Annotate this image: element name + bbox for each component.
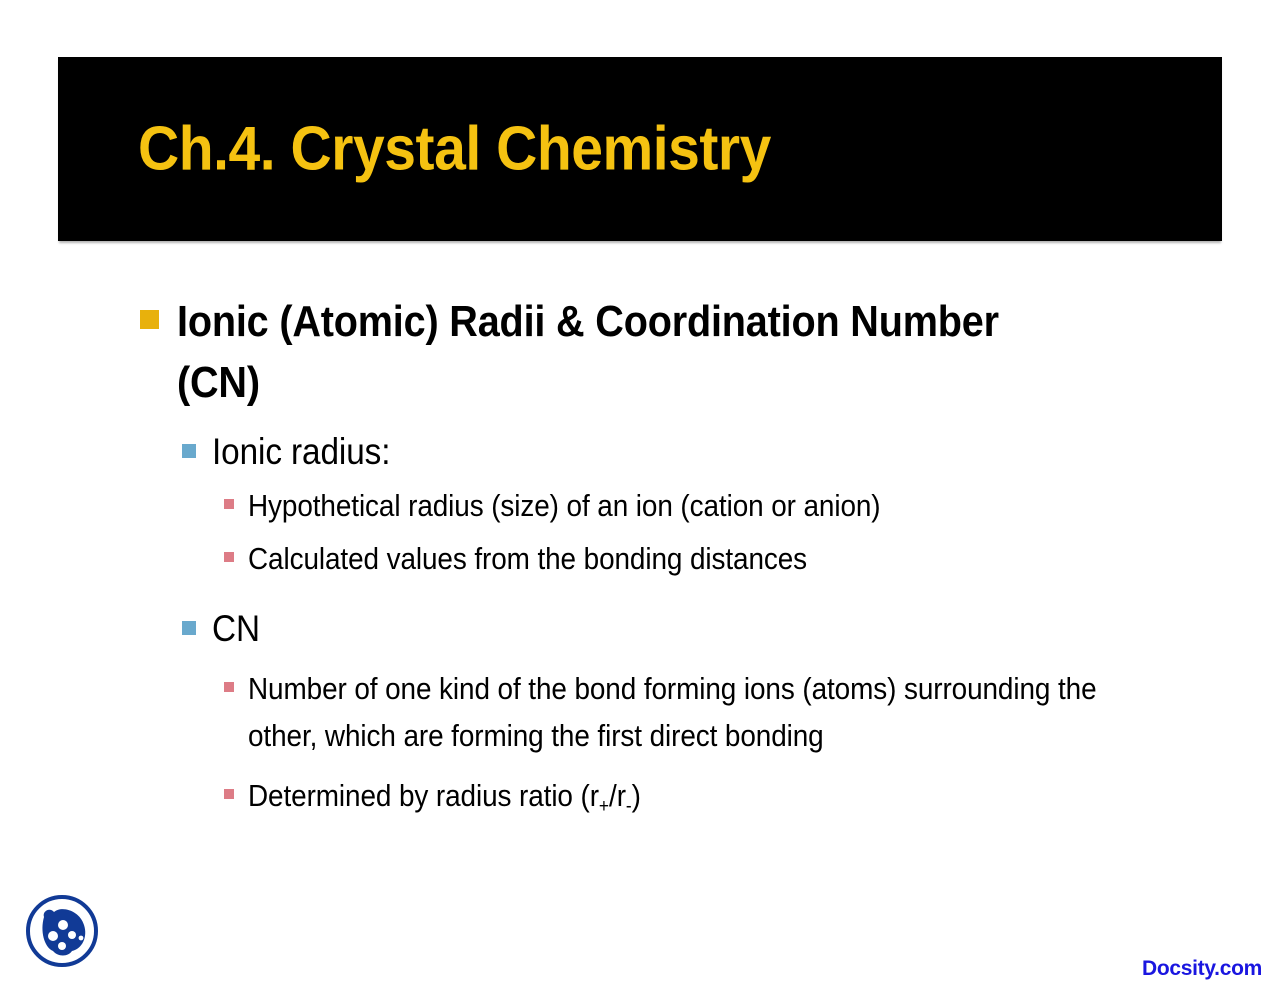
title-banner: Ch.4. Crystal Chemistry	[58, 57, 1222, 241]
slide-title: Ch.4. Crystal Chemistry	[138, 116, 826, 181]
bullet-marker-pink-square-icon	[224, 552, 234, 562]
bullet-level2-cn: CN	[0, 604, 1280, 654]
bullet-level2-label: Ionic radius:	[212, 427, 1130, 477]
bullet-level3-label: Number of one kind of the bond forming i…	[248, 666, 1170, 759]
bullet-level3-hypothetical-radius: Hypothetical radius (size) of an ion (ca…	[0, 483, 1280, 530]
bullet-level3-number-of-bond-forming-ions: Number of one kind of the bond forming i…	[0, 666, 1280, 759]
docsity-logo-icon[interactable]	[22, 891, 102, 971]
bullet-marker-pink-square-icon	[224, 682, 234, 692]
bullet-level3-calculated-values: Calculated values from the bonding dista…	[0, 536, 1280, 583]
bullet-level1-ionic-radii: Ionic (Atomic) Radii & Coordination Numb…	[0, 292, 1280, 413]
bullet-marker-pink-square-icon	[224, 499, 234, 509]
bullet-marker-blue-square-icon	[182, 444, 196, 458]
radius-ratio-prefix: Determined by radius ratio (r	[248, 778, 599, 813]
docsity-watermark-link[interactable]: Docsity.com	[1142, 957, 1262, 981]
bullet-marker-pink-square-icon	[224, 789, 234, 799]
slide-content: Ionic (Atomic) Radii & Coordination Numb…	[0, 292, 1280, 826]
bullet-level2-label: CN	[212, 604, 1130, 654]
radius-ratio-mid: /r	[609, 778, 626, 813]
bullet-level3-label: Calculated values from the bonding dista…	[248, 536, 1170, 583]
bullet-level1-label: Ionic (Atomic) Radii & Coordination Numb…	[177, 292, 1080, 413]
bullet-level3-label: Determined by radius ratio (r+/r-)	[248, 773, 1170, 822]
radius-ratio-plus-subscript: +	[599, 796, 609, 817]
bullet-level3-label: Hypothetical radius (size) of an ion (ca…	[248, 483, 1170, 530]
bullet-marker-gold-square-icon	[140, 310, 159, 329]
radius-ratio-expression: Determined by radius ratio (r+/r-)	[248, 773, 1170, 822]
bullet-level2-ionic-radius: Ionic radius:	[0, 427, 1280, 477]
radius-ratio-suffix: )	[632, 778, 641, 813]
bullet-marker-blue-square-icon	[182, 621, 196, 635]
bullet-level3-determined-by-radius-ratio: Determined by radius ratio (r+/r-)	[0, 773, 1280, 822]
slide-title-text: Ch.4. Crystal Chemistry	[138, 116, 771, 181]
